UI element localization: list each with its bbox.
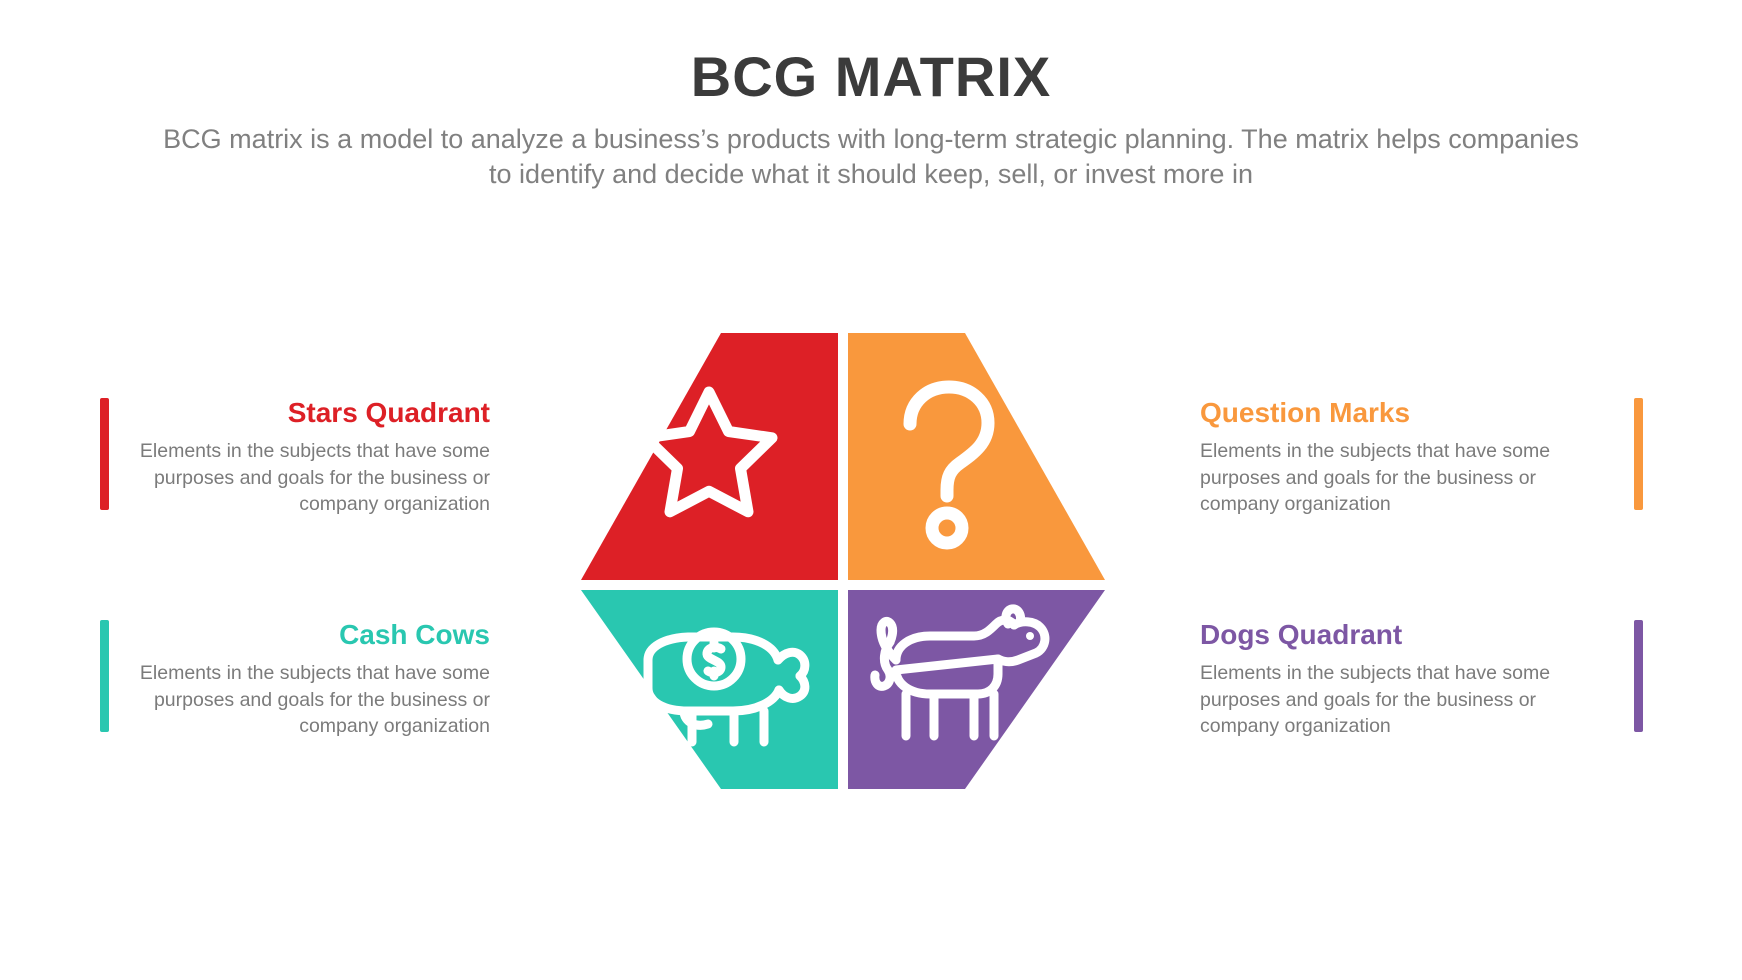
accent-bar-dogs xyxy=(1634,620,1643,732)
info-block-cash-cows: Cash Cows Elements in the subjects that … xyxy=(128,618,490,740)
quadrant-cash-cows[interactable] xyxy=(581,590,838,789)
quadrant-stars[interactable] xyxy=(581,333,838,580)
accent-bar-question-marks xyxy=(1634,398,1643,510)
block-desc-cash-cows: Elements in the subjects that have some … xyxy=(128,660,490,741)
quadrant-question-marks[interactable] xyxy=(848,333,1105,580)
hexagon-container xyxy=(578,330,1108,792)
block-desc-dogs: Elements in the subjects that have some … xyxy=(1200,660,1562,741)
block-title-stars: Stars Quadrant xyxy=(128,396,490,430)
accent-bar-cash-cows xyxy=(100,620,109,732)
block-desc-question-marks: Elements in the subjects that have some … xyxy=(1200,438,1562,519)
accent-bar-stars xyxy=(100,398,109,510)
info-block-question-marks: Question Marks Elements in the subjects … xyxy=(1200,396,1562,518)
block-title-cash-cows: Cash Cows xyxy=(128,618,490,652)
block-title-dogs: Dogs Quadrant xyxy=(1200,618,1562,652)
block-desc-stars: Elements in the subjects that have some … xyxy=(128,438,490,519)
bcg-matrix-diagram: Stars Quadrant Elements in the subjects … xyxy=(0,0,1742,980)
info-block-dogs: Dogs Quadrant Elements in the subjects t… xyxy=(1200,618,1562,740)
info-block-stars: Stars Quadrant Elements in the subjects … xyxy=(128,396,490,518)
block-title-question-marks: Question Marks xyxy=(1200,396,1562,430)
quadrant-dogs[interactable] xyxy=(848,590,1105,789)
